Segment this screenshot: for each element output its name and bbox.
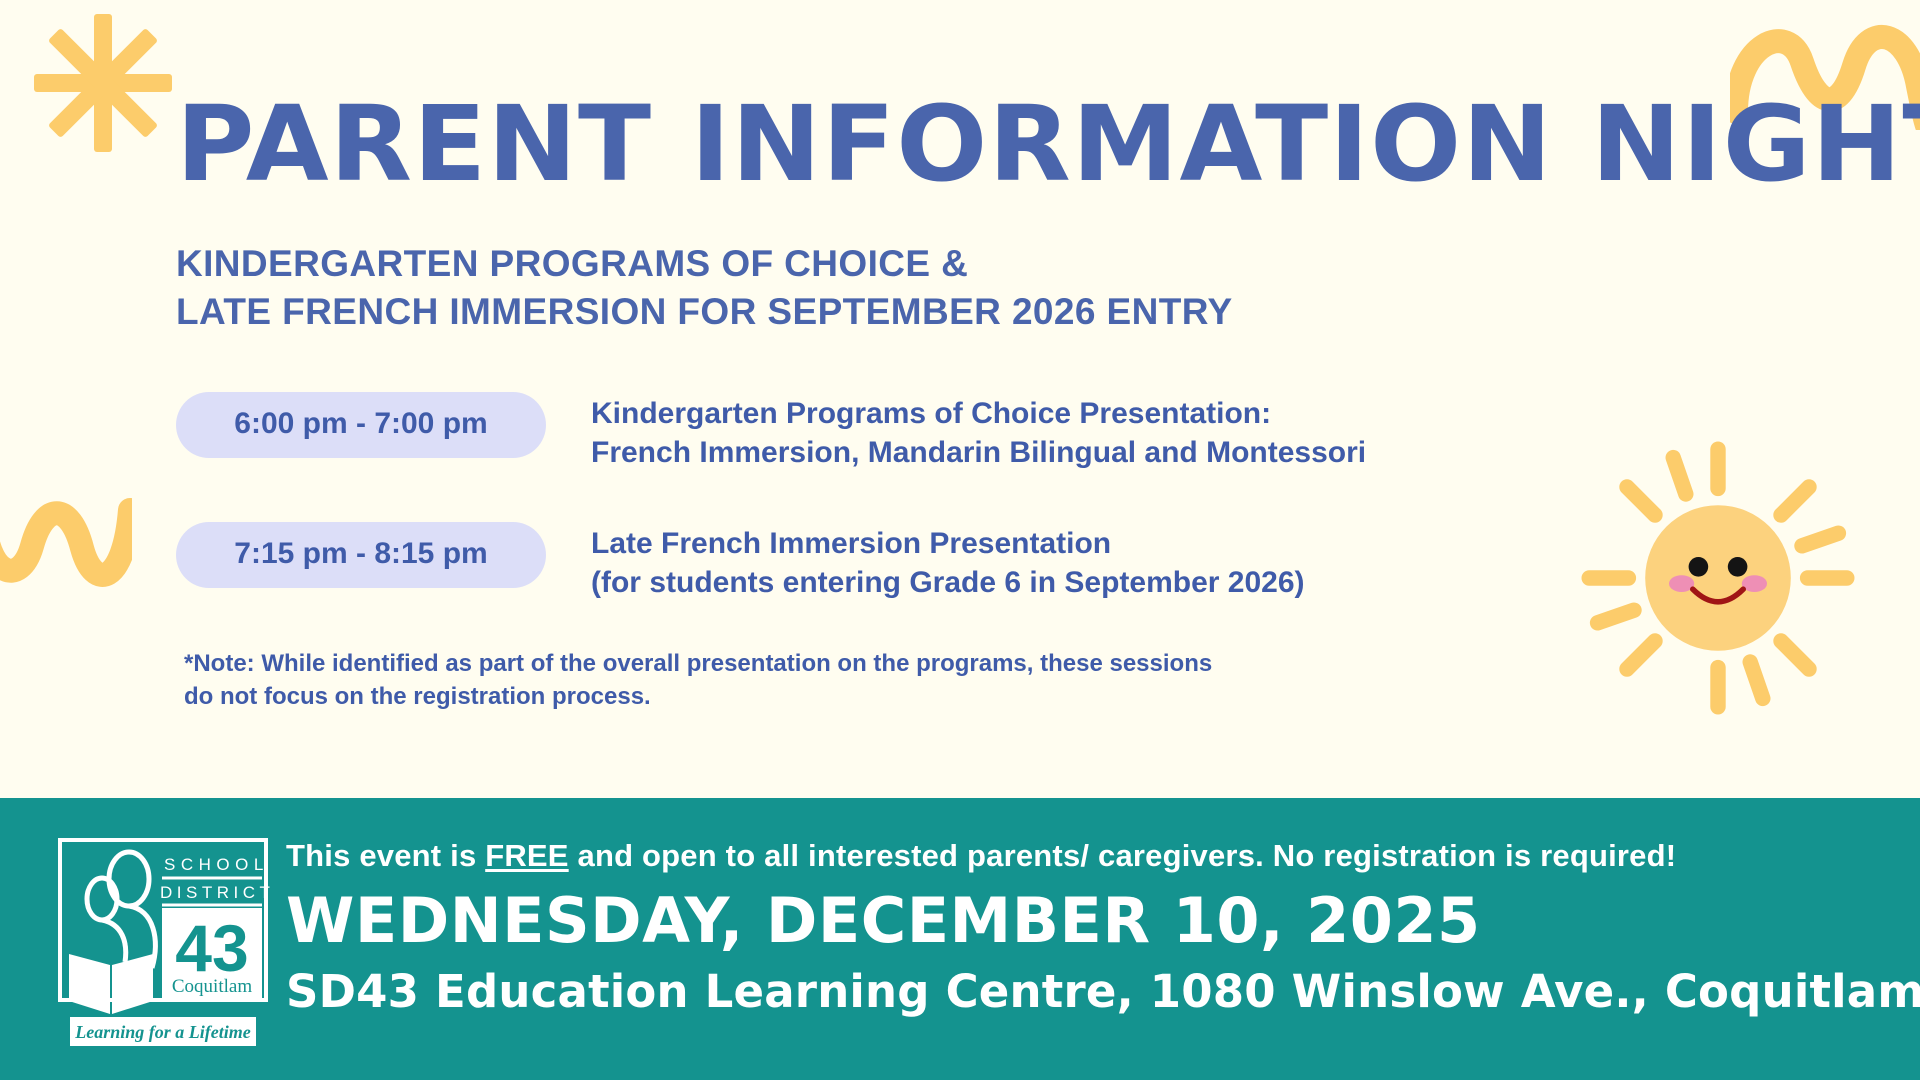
cream-content-area: PARENT INFORMATION NIGHT KINDERGARTEN PR… [0,0,1920,798]
session-row: 7:15 pm - 8:15 pm Late French Immersion … [176,518,1920,602]
session-description: Kindergarten Programs of Choice Presenta… [591,388,1366,472]
logo-district-text: DISTRICT [160,883,270,902]
sd43-logo: SCHOOL DISTRICT 43 Coquitlam Learning fo… [56,836,270,1050]
logo-school-text: SCHOOL [164,855,269,874]
note-line-2: do not focus on the registration process… [184,681,1920,713]
footer-banner: SCHOOL DISTRICT 43 Coquitlam Learning fo… [0,798,1920,1080]
event-date: WEDNESDAY, DECEMBER 10, 2025 [286,888,1920,955]
subtitle-line-1: KINDERGARTEN PROGRAMS OF CHOICE & [176,240,1920,288]
logo-tagline-text: Learning for a Lifetime [74,1022,250,1042]
session-description-line-1: Kindergarten Programs of Choice Presenta… [591,394,1366,433]
page-subtitle: KINDERGARTEN PROGRAMS OF CHOICE & LATE F… [176,240,1920,336]
note-line-1: *Note: While identified as part of the o… [184,648,1920,680]
disclaimer-note: *Note: While identified as part of the o… [184,648,1920,713]
page-title: PARENT INFORMATION NIGHT [176,92,1920,196]
session-time-badge: 6:00 pm - 7:00 pm [176,392,546,458]
sd43-logo-icon: SCHOOL DISTRICT 43 Coquitlam Learning fo… [56,836,270,1050]
event-address: SD43 Education Learning Centre, 1080 Win… [286,967,1920,1017]
logo-city-text: Coquitlam [172,976,252,997]
poster-root: PARENT INFORMATION NIGHT KINDERGARTEN PR… [0,0,1920,1080]
logo-number-text: 43 [175,911,248,985]
free-prefix: This event is [286,838,485,873]
session-description-line-2: (for students entering Grade 6 in Septem… [591,563,1305,602]
schedule-list: 6:00 pm - 7:00 pm Kindergarten Programs … [176,388,1920,602]
session-time-badge: 7:15 pm - 8:15 pm [176,522,546,588]
session-description: Late French Immersion Presentation (for … [591,518,1305,602]
session-description-line-1: Late French Immersion Presentation [591,524,1305,563]
session-description-line-2: French Immersion, Mandarin Bilingual and… [591,433,1366,472]
subtitle-line-2: LATE FRENCH IMMERSION FOR SEPTEMBER 2026… [176,288,1920,336]
free-event-line: This event is FREE and open to all inter… [286,838,1920,874]
session-row: 6:00 pm - 7:00 pm Kindergarten Programs … [176,388,1920,472]
footer-text-block: This event is FREE and open to all inter… [286,838,1920,1016]
free-word: FREE [485,838,568,873]
free-suffix: and open to all interested parents/ care… [569,838,1677,873]
